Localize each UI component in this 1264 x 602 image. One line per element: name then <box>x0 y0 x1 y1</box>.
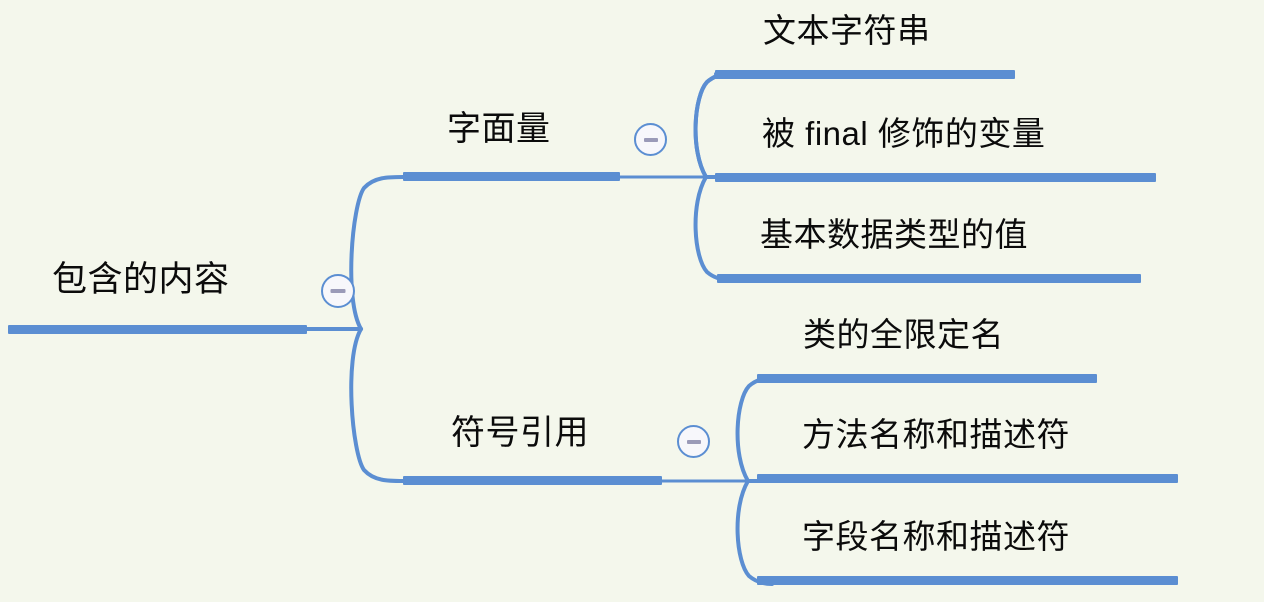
node-leaf-1-1[interactable]: 文本字符串 <box>715 14 1015 82</box>
node-leaf-2-3[interactable]: 字段名称和描述符 <box>757 520 1178 588</box>
node-root-underline <box>8 325 307 334</box>
node-root-label: 包含的内容 <box>52 262 230 297</box>
node-leaf-1-3-underline <box>717 274 1141 283</box>
node-leaf-2-2-underline <box>757 474 1178 483</box>
node-branch-1-label: 字面量 <box>447 112 551 146</box>
node-leaf-1-2[interactable]: 被 final 修饰的变量 <box>715 117 1156 185</box>
node-leaf-1-3-label: 基本数据类型的值 <box>760 218 1028 251</box>
minus-icon <box>331 289 346 293</box>
node-leaf-1-2-label: 被 final 修饰的变量 <box>762 117 1045 150</box>
collapse-toggle-branch-1[interactable] <box>634 123 667 156</box>
node-leaf-2-1-label: 类的全限定名 <box>803 318 1004 351</box>
collapse-toggle-branch-2[interactable] <box>677 425 710 458</box>
minus-icon <box>687 440 701 444</box>
node-branch-1[interactable]: 字面量 <box>403 112 623 184</box>
node-leaf-2-1[interactable]: 类的全限定名 <box>757 318 1097 386</box>
node-root[interactable]: 包含的内容 <box>0 262 320 337</box>
root-fork-spine-lower <box>351 329 403 481</box>
node-leaf-1-3[interactable]: 基本数据类型的值 <box>717 218 1141 286</box>
node-leaf-2-2[interactable]: 方法名称和描述符 <box>757 418 1178 486</box>
node-leaf-2-1-underline <box>757 374 1097 383</box>
node-branch-2-label: 符号引用 <box>451 416 589 450</box>
mindmap-canvas: 包含的内容 字面量 文本字符串 被 final 修饰的变量 基本数据类型的值 符… <box>0 0 1264 602</box>
root-fork-spine <box>351 177 403 329</box>
node-branch-1-underline <box>403 172 620 181</box>
collapse-toggle-root[interactable] <box>321 274 355 308</box>
node-leaf-1-1-underline <box>715 70 1015 79</box>
minus-icon <box>644 138 658 142</box>
node-leaf-2-3-label: 字段名称和描述符 <box>802 520 1070 553</box>
node-leaf-1-2-underline <box>715 173 1156 182</box>
node-branch-2[interactable]: 符号引用 <box>403 416 665 488</box>
node-leaf-2-3-underline <box>757 576 1178 585</box>
node-leaf-2-2-label: 方法名称和描述符 <box>802 418 1070 451</box>
node-leaf-1-1-label: 文本字符串 <box>763 14 931 47</box>
node-branch-2-underline <box>403 476 662 485</box>
